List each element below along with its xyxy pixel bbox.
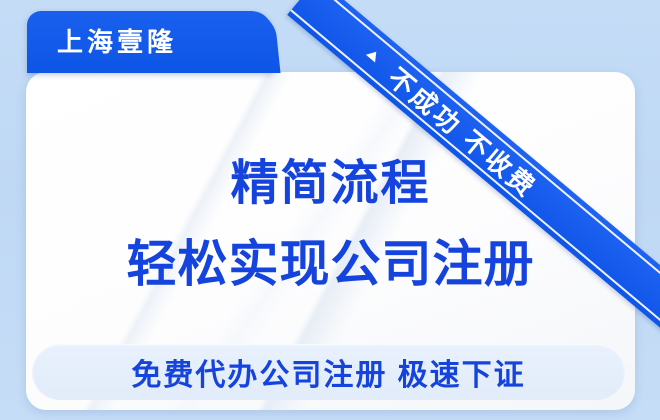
- brand-tab[interactable]: 上海壹隆: [27, 11, 273, 73]
- cta-banner-label: 免费代办公司注册 极速下证: [131, 350, 525, 394]
- headline-secondary: 轻松实现公司注册: [26, 234, 635, 294]
- triangle-up-icon: [366, 48, 381, 63]
- content-card: 精简流程 轻松实现公司注册 免费代办公司注册 极速下证: [26, 72, 635, 410]
- poster-canvas: 精简流程 轻松实现公司注册 免费代办公司注册 极速下证 上海壹隆 不成功 不收费: [0, 0, 660, 420]
- cta-banner[interactable]: 免费代办公司注册 极速下证: [32, 344, 625, 400]
- brand-tab-label: 上海壹隆: [57, 24, 177, 60]
